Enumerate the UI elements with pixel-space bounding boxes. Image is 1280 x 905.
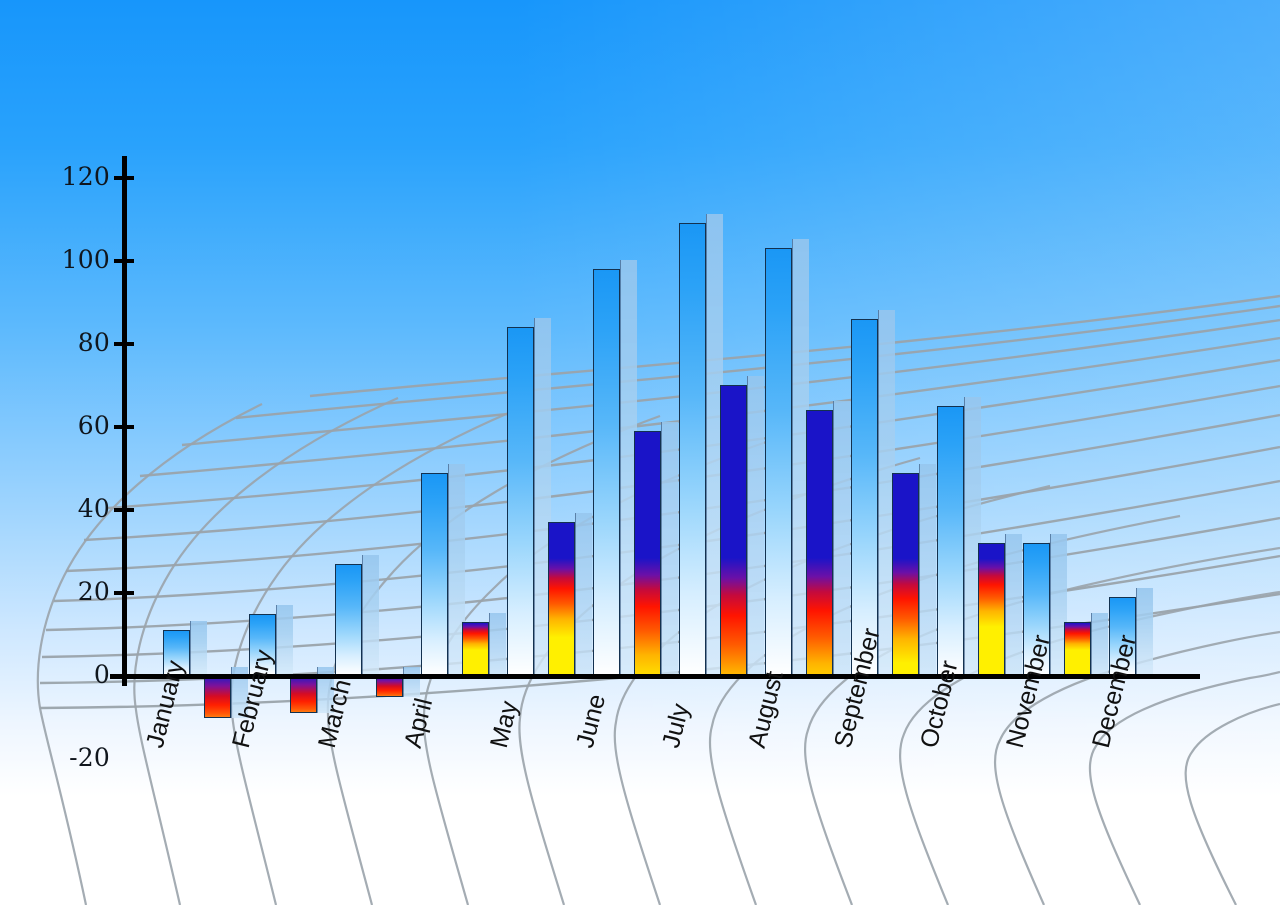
bar-shadow-series2 <box>1005 534 1022 676</box>
bar-series2-april[interactable] <box>462 622 489 676</box>
y-axis-tick-label: 80 <box>40 328 110 357</box>
bar-series2-october[interactable] <box>978 543 1005 676</box>
bar-shadow-series2 <box>919 464 936 676</box>
bar-series2-february[interactable] <box>290 676 317 713</box>
bar-series1-june[interactable] <box>593 269 620 676</box>
y-axis-tick-label: 0 <box>40 660 110 689</box>
y-axis-tick-label: 60 <box>40 411 110 440</box>
y-tick <box>114 508 134 512</box>
bar-shadow-series2 <box>833 401 850 676</box>
chart-canvas: 120100806040200-20 JanuaryFebruaryMarchA… <box>0 0 1280 905</box>
bar-series2-july[interactable] <box>720 385 747 676</box>
bar-shadow-series2 <box>661 422 678 676</box>
bar-series2-september[interactable] <box>892 473 919 676</box>
bar-shadow-series1 <box>1136 588 1153 676</box>
bar-series2-january[interactable] <box>204 676 231 718</box>
bar-shadow-series1 <box>276 605 293 676</box>
y-tick <box>114 259 134 263</box>
y-tick <box>114 591 134 595</box>
bar-series2-june[interactable] <box>634 431 661 676</box>
bar-series1-may[interactable] <box>507 327 534 676</box>
y-axis-tick-label: 40 <box>40 494 110 523</box>
y-tick <box>114 425 134 429</box>
y-tick <box>114 176 134 180</box>
y-axis <box>122 156 127 686</box>
plot-area <box>0 0 1280 905</box>
bar-series2-may[interactable] <box>548 522 575 676</box>
bar-series2-august[interactable] <box>806 410 833 676</box>
bar-series2-november[interactable] <box>1064 622 1091 676</box>
bar-series1-march[interactable] <box>335 564 362 676</box>
bar-shadow-series1 <box>190 621 207 676</box>
y-axis-tick-label: 100 <box>40 245 110 274</box>
bar-series1-july[interactable] <box>679 223 706 676</box>
bar-series1-october[interactable] <box>937 406 964 676</box>
bar-shadow-series1 <box>362 555 379 676</box>
y-axis-tick-label: -20 <box>40 743 110 772</box>
bar-shadow-series2 <box>575 513 592 676</box>
y-tick <box>114 674 134 678</box>
bar-shadow-series2 <box>403 667 420 697</box>
bar-shadow-series2 <box>747 376 764 676</box>
bar-series1-september[interactable] <box>851 319 878 676</box>
bar-series2-march[interactable] <box>376 676 403 697</box>
bar-series1-august[interactable] <box>765 248 792 676</box>
bar-shadow-series2 <box>489 613 506 676</box>
y-tick <box>114 342 134 346</box>
bar-series1-april[interactable] <box>421 473 448 676</box>
y-axis-tick-label: 120 <box>40 162 110 191</box>
y-axis-tick-label: 20 <box>40 577 110 606</box>
